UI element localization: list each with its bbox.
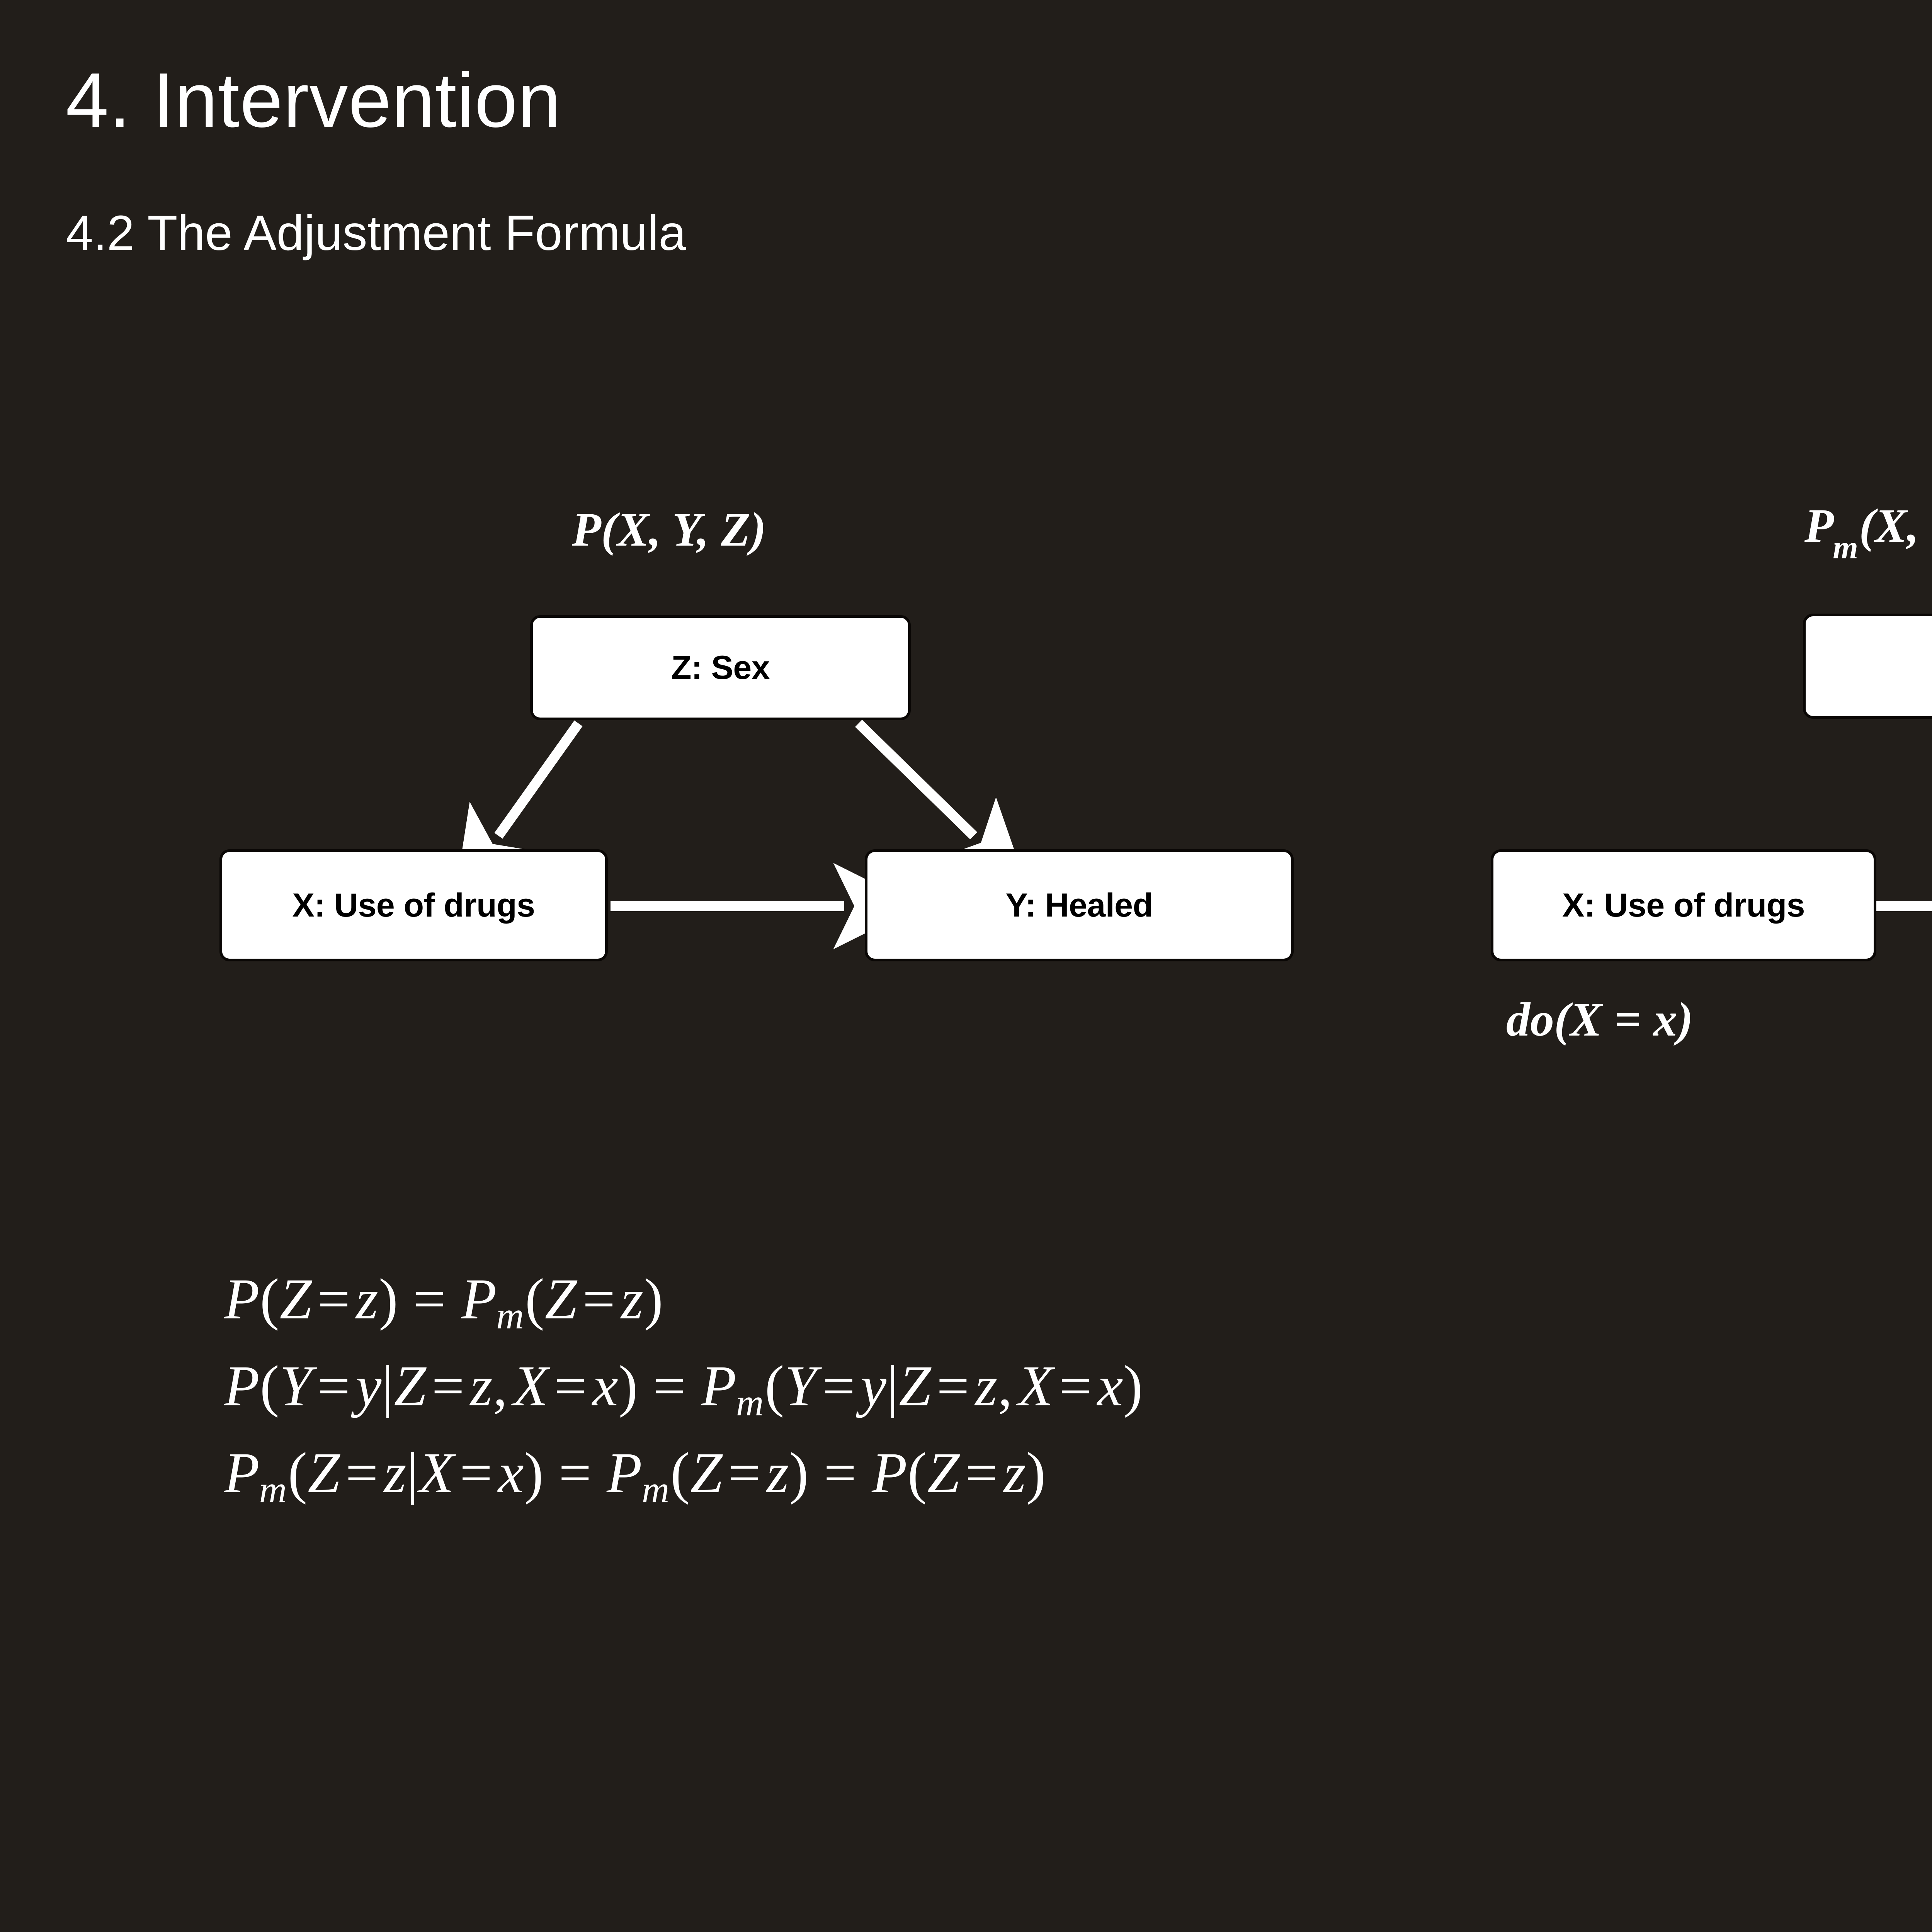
page-title: 4. Intervention [66,62,561,139]
node-label: Z: Sex [671,649,770,687]
node-y-healed-left[interactable]: Y: Healed [865,849,1294,961]
dist-label-base: P [572,503,601,556]
equation-block: P(Z = z) = Pm(Z = z) P(Y = y|Z = z, X = … [224,1256,1932,1517]
distribution-label-observational: P(X, Y, Z) [572,502,766,564]
node-z-sex-right[interactable]: Z: Sex [1803,614,1932,719]
dist-label-args: (X, Y, Z) [601,503,766,556]
node-x-use-of-drugs-left[interactable]: X: Use of drugs [219,849,608,961]
dist-label-args: (X, Y, Z) [1859,499,1932,552]
causal-graph-arrows [0,0,1932,1932]
edge-z-to-y-left [859,723,974,836]
equation-line-1: P(Z = z) = Pm(Z = z) [224,1256,1932,1343]
distribution-label-interventional: Pm(X, Y, Z) [1804,498,1932,560]
dist-label-subscript: m [1833,530,1858,566]
do-operator-caption: do(X = x) [1506,992,1693,1047]
edge-z-to-x-left [498,723,578,836]
dist-label-base: P [1804,499,1834,552]
equation-line-2: P(Y = y|Z = z, X = x) = Pm(Y = y|Z = z, … [224,1343,1932,1430]
node-x-use-of-drugs-right[interactable]: X: Use of drugs [1491,849,1876,961]
node-label: X: Use of drugs [292,886,535,925]
node-label: Y: Healed [1005,886,1153,925]
page-subtitle: 4.2 The Adjustment Formula [66,209,686,258]
node-label: X: Use of drugs [1562,886,1805,925]
node-z-sex-left[interactable]: Z: Sex [530,615,911,720]
equation-line-3: Pm(Z = z|X = x) = Pm(Z = z) = P(Z = z) [224,1430,1932,1517]
